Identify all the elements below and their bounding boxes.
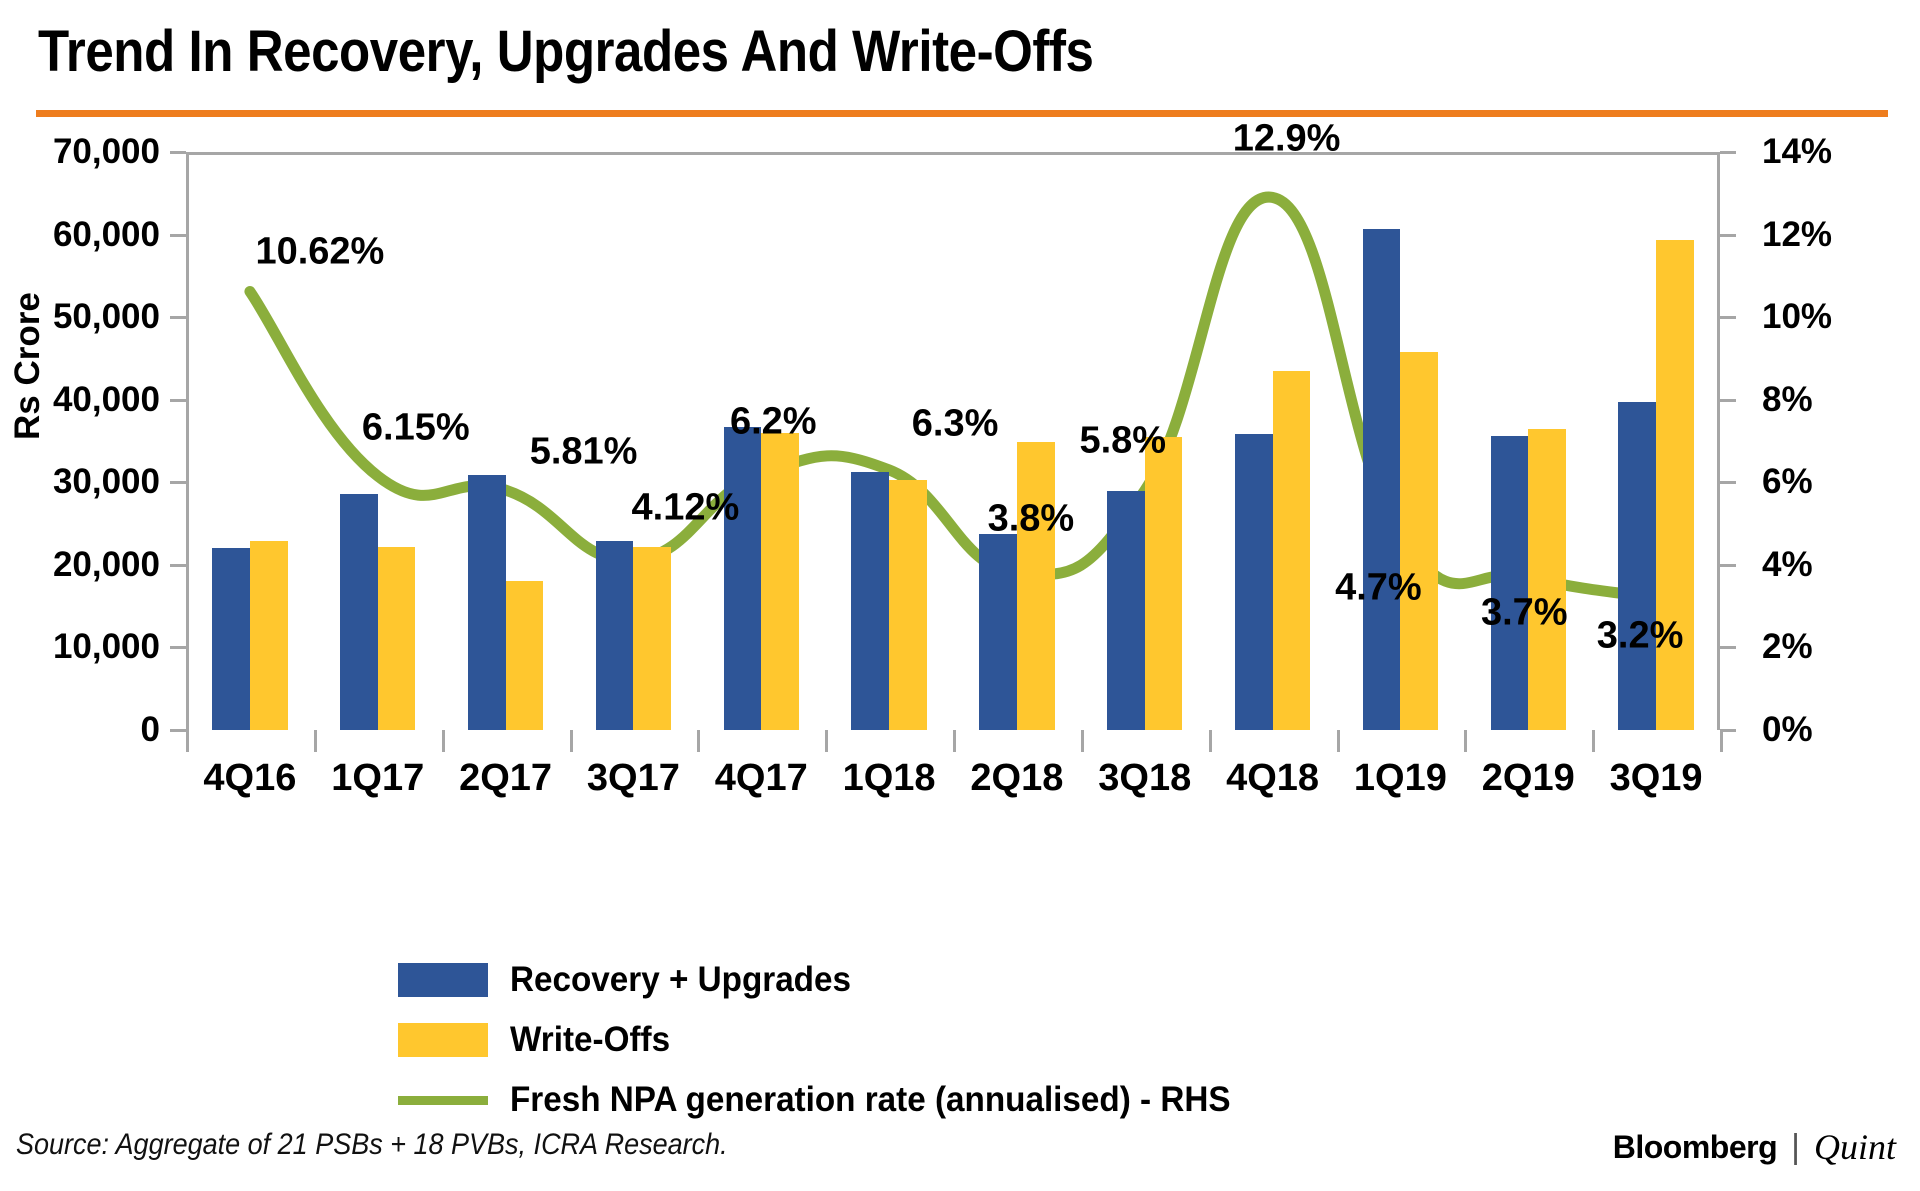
x-axis-tick-label: 2Q17 bbox=[459, 757, 552, 800]
bar bbox=[506, 581, 544, 730]
y2-axis-tick-label: 14% bbox=[1762, 132, 1832, 172]
line-data-label: 5.8% bbox=[1079, 419, 1166, 462]
y-axis-tick bbox=[170, 234, 186, 237]
bar bbox=[1273, 371, 1311, 730]
x-axis-tick bbox=[697, 730, 700, 752]
line-data-label: 6.15% bbox=[362, 407, 470, 450]
legend-item-recovery-upgrades[interactable]: Recovery + Upgrades bbox=[398, 955, 1268, 1005]
x-axis-tick-label: 2Q19 bbox=[1482, 757, 1575, 800]
line-data-label: 4.12% bbox=[632, 486, 740, 529]
bar bbox=[1145, 437, 1183, 730]
legend-item-npa-rate[interactable]: Fresh NPA generation rate (annualised) -… bbox=[398, 1075, 1268, 1125]
bar bbox=[1107, 491, 1145, 730]
legend-swatch-icon bbox=[398, 963, 488, 997]
x-axis-tick bbox=[186, 730, 189, 752]
y-axis-tick-label: 0 bbox=[141, 710, 160, 750]
x-axis-tick-label: 2Q18 bbox=[970, 757, 1063, 800]
page-title: Trend In Recovery, Upgrades And Write-Of… bbox=[38, 18, 1093, 85]
y2-axis-tick bbox=[1720, 151, 1736, 154]
y-axis-tick bbox=[170, 316, 186, 319]
y-axis-tick-label: 40,000 bbox=[53, 380, 160, 420]
legend-label: Fresh NPA generation rate (annualised) -… bbox=[510, 1080, 1231, 1120]
bar bbox=[250, 541, 288, 730]
brand-quint-text: Quint bbox=[1814, 1126, 1896, 1168]
x-axis-tick bbox=[1209, 730, 1212, 752]
chart-container: Trend In Recovery, Upgrades And Write-Of… bbox=[0, 0, 1920, 1191]
line-data-label: 10.62% bbox=[255, 230, 384, 273]
y-axis-tick bbox=[170, 729, 186, 732]
x-axis-tick-label: 3Q19 bbox=[1610, 757, 1703, 800]
bar bbox=[212, 548, 250, 730]
line-data-label: 3.7% bbox=[1481, 592, 1568, 635]
line-data-label: 6.2% bbox=[730, 401, 817, 444]
y-axis-tick bbox=[170, 646, 186, 649]
y2-axis-tick-label: 2% bbox=[1762, 627, 1813, 667]
x-axis-tick bbox=[1337, 730, 1340, 752]
x-axis-tick-label: 3Q17 bbox=[587, 757, 680, 800]
line-data-label: 12.9% bbox=[1233, 118, 1341, 161]
x-axis-tick-label: 4Q18 bbox=[1226, 757, 1319, 800]
x-axis-tick-label: 1Q17 bbox=[331, 757, 424, 800]
legend-label: Write-Offs bbox=[510, 1020, 670, 1060]
bar bbox=[979, 534, 1017, 730]
y2-axis-tick-label: 4% bbox=[1762, 545, 1813, 585]
bar bbox=[1363, 229, 1401, 730]
y-axis-tick-label: 70,000 bbox=[53, 132, 160, 172]
x-axis-tick-label: 4Q16 bbox=[203, 757, 296, 800]
y-axis-tick-label: 20,000 bbox=[53, 545, 160, 585]
bar bbox=[340, 494, 378, 730]
y-axis-tick-label: 60,000 bbox=[53, 215, 160, 255]
bar bbox=[1618, 402, 1656, 730]
y2-axis-tick bbox=[1720, 234, 1736, 237]
brand-separator: | bbox=[1791, 1128, 1800, 1167]
x-axis-tick bbox=[1592, 730, 1595, 752]
y2-axis-tick bbox=[1720, 316, 1736, 319]
x-axis-baseline bbox=[186, 152, 1720, 155]
y-axis-tick-label: 10,000 bbox=[53, 627, 160, 667]
y2-axis-tick bbox=[1720, 481, 1736, 484]
legend-line-icon bbox=[398, 1096, 488, 1105]
y2-axis-tick-label: 10% bbox=[1762, 297, 1832, 337]
x-axis-tick bbox=[1720, 730, 1723, 752]
y2-axis-tick-label: 12% bbox=[1762, 215, 1832, 255]
y-axis-left bbox=[186, 152, 189, 730]
brand-logo: Bloomberg | Quint bbox=[1613, 1126, 1896, 1168]
y-axis-right bbox=[1717, 152, 1720, 730]
bar bbox=[596, 541, 634, 730]
bar bbox=[378, 547, 416, 730]
y-axis-title: Rs Crore bbox=[8, 292, 48, 440]
y2-axis-tick-label: 6% bbox=[1762, 462, 1813, 502]
y-axis-tick bbox=[170, 399, 186, 402]
x-axis-tick bbox=[1081, 730, 1084, 752]
y2-axis-tick bbox=[1720, 564, 1736, 567]
y-axis-tick-label: 50,000 bbox=[53, 297, 160, 337]
line-data-label: 4.7% bbox=[1335, 566, 1422, 609]
y2-axis-tick-label: 8% bbox=[1762, 380, 1813, 420]
npa-rate-line-path bbox=[250, 197, 1656, 598]
y-axis-tick-label: 30,000 bbox=[53, 462, 160, 502]
bar bbox=[851, 472, 889, 730]
y-axis-tick bbox=[170, 151, 186, 154]
bar bbox=[1235, 434, 1273, 730]
x-axis-tick bbox=[570, 730, 573, 752]
bar bbox=[1017, 442, 1055, 730]
legend-label: Recovery + Upgrades bbox=[510, 960, 851, 1000]
y2-axis-tick bbox=[1720, 646, 1736, 649]
x-axis-tick-label: 4Q17 bbox=[715, 757, 808, 800]
line-data-label: 5.81% bbox=[530, 431, 638, 474]
line-data-label: 6.3% bbox=[912, 402, 999, 445]
legend-item-write-offs[interactable]: Write-Offs bbox=[398, 1015, 1268, 1065]
x-axis-tick bbox=[1464, 730, 1467, 752]
bar bbox=[889, 480, 927, 730]
chart-legend: Recovery + Upgrades Write-Offs Fresh NPA… bbox=[398, 955, 1268, 1135]
bar bbox=[1528, 429, 1566, 730]
source-note: Source: Aggregate of 21 PSBs + 18 PVBs, … bbox=[16, 1128, 728, 1162]
line-data-label: 3.8% bbox=[988, 498, 1075, 541]
line-data-label: 3.2% bbox=[1597, 614, 1684, 657]
legend-swatch-icon bbox=[398, 1023, 488, 1057]
x-axis-tick bbox=[442, 730, 445, 752]
x-axis-tick-label: 1Q18 bbox=[843, 757, 936, 800]
y-axis-tick bbox=[170, 564, 186, 567]
x-axis-tick bbox=[825, 730, 828, 752]
title-accent-rule bbox=[36, 110, 1888, 117]
x-axis-tick bbox=[314, 730, 317, 752]
y2-axis-tick-label: 0% bbox=[1762, 710, 1813, 750]
bar bbox=[1491, 436, 1529, 730]
brand-bloomberg-text: Bloomberg bbox=[1613, 1129, 1777, 1166]
y2-axis-tick bbox=[1720, 399, 1736, 402]
bar bbox=[468, 475, 506, 730]
bar bbox=[724, 427, 762, 730]
x-axis-tick bbox=[953, 730, 956, 752]
bar bbox=[1400, 352, 1438, 730]
x-axis-tick-label: 1Q19 bbox=[1354, 757, 1447, 800]
x-axis-tick-label: 3Q18 bbox=[1098, 757, 1191, 800]
bar bbox=[761, 433, 799, 730]
y-axis-tick bbox=[170, 481, 186, 484]
bar bbox=[633, 547, 671, 730]
